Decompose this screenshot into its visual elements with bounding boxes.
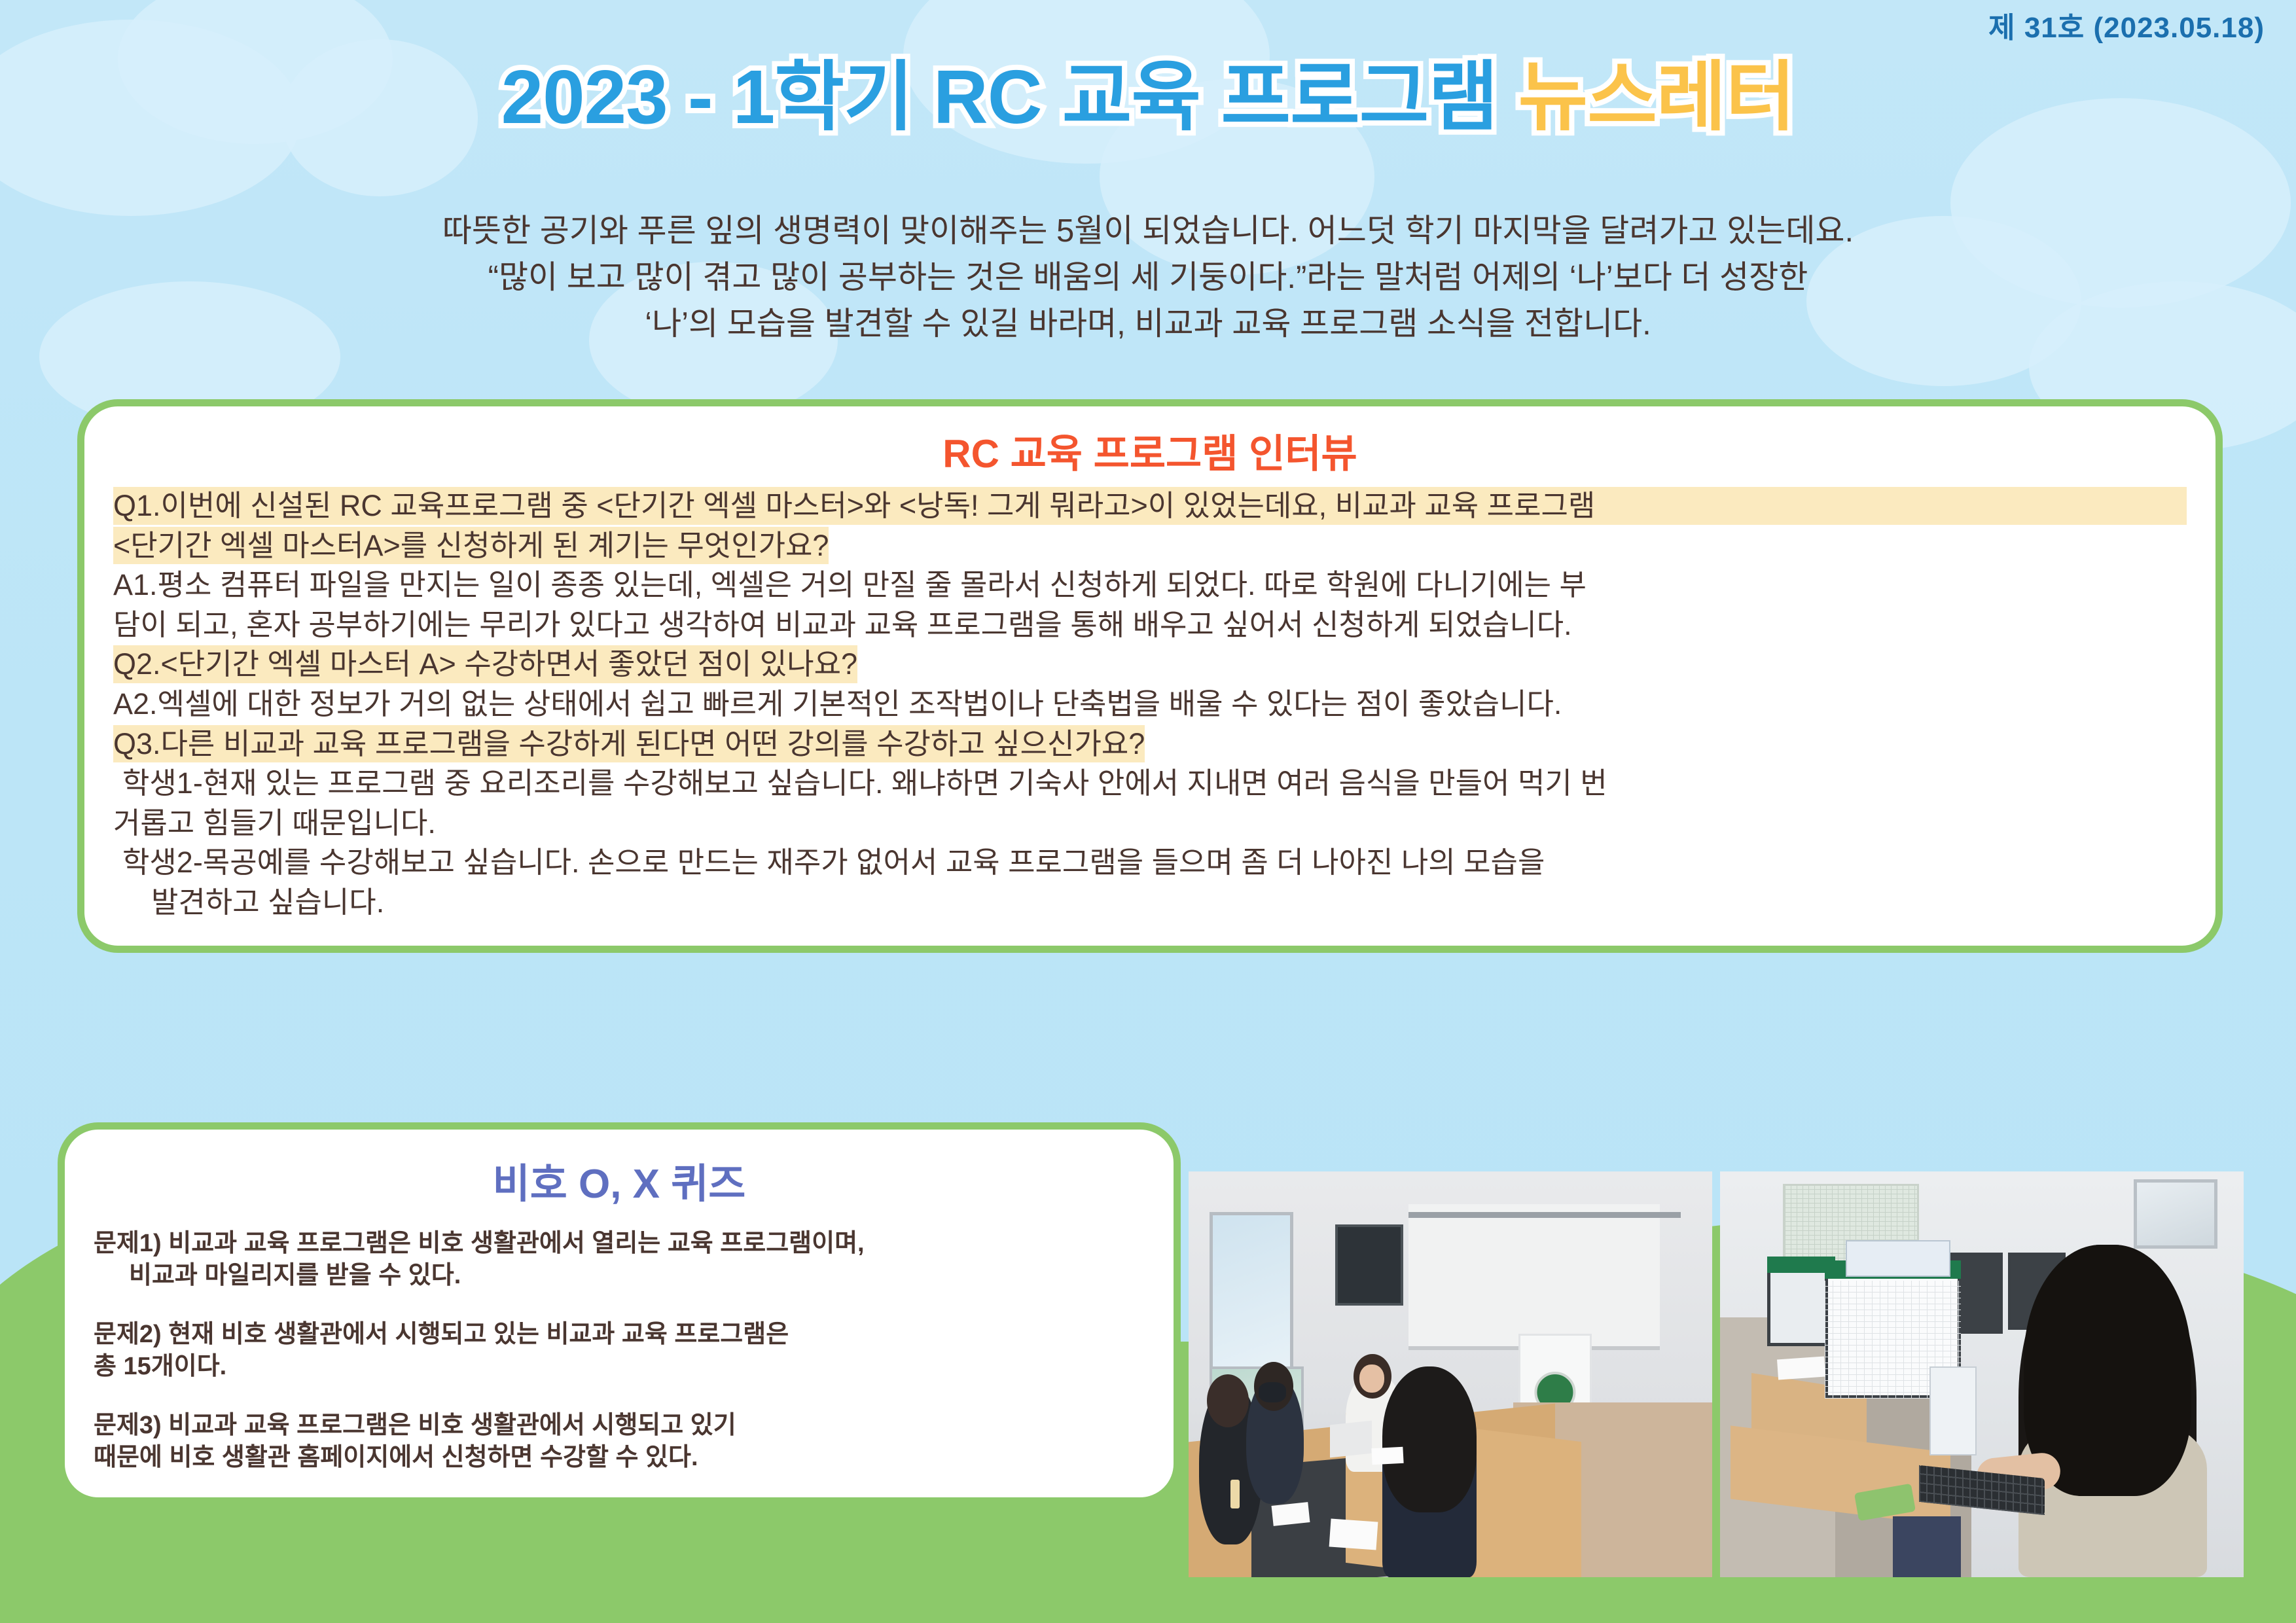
intro-line-1: 따뜻한 공기와 푸른 잎의 생명력이 맞이해주는 5월이 되었습니다. 어느덧 … xyxy=(79,208,2217,255)
page-title: 2023 - 1학기 RC 교육 프로그램 뉴스레터 xyxy=(0,58,2296,137)
quiz-q1-line2: 비교과 마일리지를 받을 수 있다. xyxy=(94,1260,1145,1292)
interview-q2: Q2.<단기간 엑셀 마스터 A> 수강하면서 좋았던 점이 있나요? xyxy=(113,645,857,683)
interview-student1-line2: 거롭고 힘들기 때문입니다. xyxy=(113,804,2187,842)
interview-q1-line2: <단기간 엑셀 마스터A>를 신청하게 된 계기는 무엇인가요? xyxy=(113,527,829,565)
interview-q3: Q3.다른 비교과 교육 프로그램을 수강하게 된다면 어떤 강의를 수강하고 … xyxy=(113,725,1145,763)
photo-gallery xyxy=(1189,1171,2244,1577)
photo2-chair xyxy=(1893,1516,1961,1577)
intro-paragraph: 따뜻한 공기와 푸른 잎의 생명력이 맞이해주는 5월이 되었습니다. 어느덧 … xyxy=(0,208,2296,348)
photo1-instructor-face xyxy=(1359,1364,1384,1393)
interview-q1-line1: Q1.이번에 신설된 RC 교육프로그램 중 <단기간 엑셀 마스터>와 <낭독… xyxy=(113,487,2187,525)
interview-a2: A2.엑셀에 대한 정보가 거의 없는 상태에서 쉽고 빠르게 기본적인 조작법… xyxy=(113,685,2187,723)
interview-panel: RC 교육 프로그램 인터뷰 Q1.이번에 신설된 RC 교육프로그램 중 <단… xyxy=(77,399,2223,953)
quiz-q3-line2: 때문에 비호 생활관 홈페이지에서 신청하면 수강할 수 있다. xyxy=(94,1442,1145,1474)
photo1-paper-3 xyxy=(1371,1446,1403,1464)
quiz-panel: 비호 O, X 퀴즈 문제1) 비교과 교육 프로그램은 비호 생활관에서 열리… xyxy=(58,1122,1181,1505)
interview-meeting-room-photo xyxy=(1189,1171,1712,1577)
photo1-student-a-head xyxy=(1207,1374,1249,1427)
quiz-q3-line1: 문제3) 비교과 교육 프로그램은 비호 생활관에서 시행되고 있기 xyxy=(94,1412,736,1439)
quiz-heading: 비호 O, X 퀴즈 xyxy=(94,1150,1145,1209)
photo1-bottle-icon xyxy=(1230,1480,1240,1508)
title-accent-text: 뉴스레터 xyxy=(1518,54,1795,139)
photo2-window-icon xyxy=(2134,1179,2217,1248)
quiz-question-3: 문제3) 비교과 교육 프로그램은 비호 생활관에서 시행되고 있기 때문에 비… xyxy=(94,1410,1145,1474)
intro-line-3: ‘나’의 모습을 발견할 수 있길 바라며, 비교과 교육 프로그램 소식을 전… xyxy=(79,301,2217,348)
interview-heading: RC 교육 프로그램 인터뷰 xyxy=(113,422,2187,479)
title-main-text: 2023 - 1학기 RC 교육 프로그램 xyxy=(501,54,1518,139)
photo1-face-mask-icon xyxy=(1259,1382,1286,1402)
interview-a1-line2: 담이 되고, 혼자 공부하기에는 무리가 있다고 생각하여 비교과 교육 프로그… xyxy=(113,606,2187,644)
issue-number: 제 31호 (2023.05.18) xyxy=(1988,4,2265,46)
quiz-q2-line2: 총 15개이다. xyxy=(94,1351,1145,1383)
photo1-rail xyxy=(1408,1212,1681,1218)
quiz-question-1: 문제1) 비교과 교육 프로그램은 비호 생활관에서 열리는 교육 프로그램이며… xyxy=(94,1228,1145,1293)
photo1-student-foreground-hair xyxy=(1382,1366,1477,1512)
quiz-q1-line1: 문제1) 비교과 교육 프로그램은 비호 생활관에서 열리는 교육 프로그램이며… xyxy=(94,1230,865,1257)
interview-student1-line1: 학생1-현재 있는 프로그램 중 요리조리를 수강해보고 싶습니다. 왜냐하면 … xyxy=(113,764,2187,802)
photo1-laptop-icon xyxy=(1330,1421,1372,1457)
photo1-whiteboard xyxy=(1408,1204,1660,1350)
intro-line-2: “많이 보고 많이 겪고 많이 공부하는 것은 배움의 세 기둥이다.”라는 말… xyxy=(79,255,2217,301)
photo2-document-holder xyxy=(1929,1366,1977,1455)
quiz-question-2: 문제2) 현재 비호 생활관에서 시행되고 있는 비교과 교육 프로그램은 총 … xyxy=(94,1319,1145,1383)
interview-a1-line1: A1.평소 컴퓨터 파일을 만지는 일이 종종 있는데, 엑셀은 거의 만질 줄… xyxy=(113,566,2187,604)
interview-student2-line1: 학생2-목공예를 수강해보고 싶습니다. 손으로 만드는 재주가 없어서 교육 … xyxy=(113,844,2187,882)
interview-student2-line2: 발견하고 싶습니다. xyxy=(113,883,2187,921)
photo1-paper-1 xyxy=(1272,1503,1310,1527)
photo2-paper xyxy=(1777,1357,1825,1380)
quiz-q2-line1: 문제2) 현재 비호 생활관에서 시행되고 있는 비교과 교육 프로그램은 xyxy=(94,1321,789,1348)
photo2-poster xyxy=(1846,1240,1950,1277)
photo1-tv-screen-icon xyxy=(1335,1224,1403,1306)
excel-computer-lab-photo xyxy=(1720,1171,2244,1577)
photo1-paper-2 xyxy=(1329,1519,1378,1550)
